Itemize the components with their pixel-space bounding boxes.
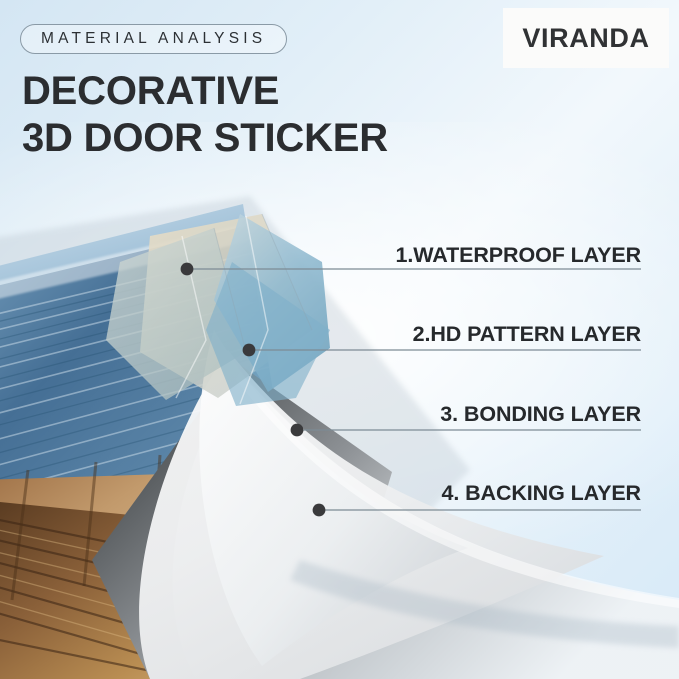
leader-line-group xyxy=(187,269,641,510)
callout-dot-1 xyxy=(181,263,194,276)
eyebrow-label: MATERIAL ANALYSIS xyxy=(41,30,266,48)
callout-label-waterproof: 1.WATERPROOF LAYER xyxy=(396,243,641,268)
brand-name: VIRANDA xyxy=(522,23,649,54)
material-analysis-infographic: 1.WATERPROOF LAYER 2.HD PATTERN LAYER 3.… xyxy=(0,0,679,679)
page-title-line-1: DECORATIVE xyxy=(22,69,279,113)
brand-badge: VIRANDA xyxy=(503,8,669,68)
page-title: DECORATIVE 3D DOOR STICKER xyxy=(22,68,388,162)
callout-label-backing: 4. BACKING LAYER xyxy=(441,481,641,506)
callout-dot-2 xyxy=(243,344,256,357)
callout-dot-group xyxy=(181,263,326,517)
callout-dot-3 xyxy=(291,424,304,437)
callout-label-hd-pattern: 2.HD PATTERN LAYER xyxy=(413,322,641,347)
page-title-line-2: 3D DOOR STICKER xyxy=(22,115,388,162)
callout-label-bonding: 3. BONDING LAYER xyxy=(440,402,641,427)
eyebrow-badge: MATERIAL ANALYSIS xyxy=(20,24,287,54)
callout-dot-4 xyxy=(313,504,326,517)
